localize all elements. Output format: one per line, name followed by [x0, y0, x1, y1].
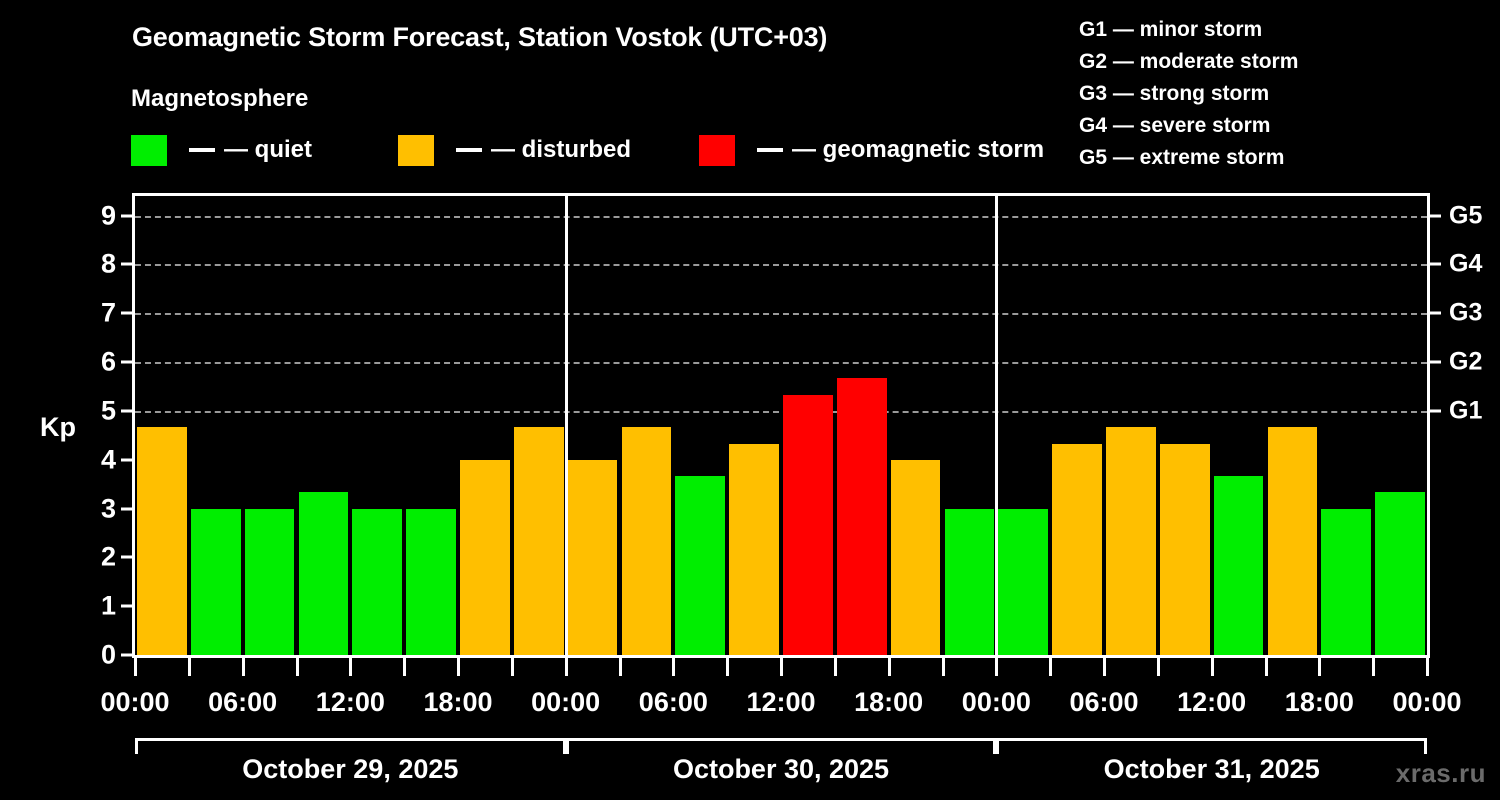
bar — [1214, 476, 1264, 655]
g-scale-line-g1: G1 — minor storm — [1079, 14, 1298, 46]
x-axis-tick-mark — [1103, 658, 1106, 676]
y-axis-tick-label: 6 — [76, 347, 116, 378]
legend-label-disturbed: — disturbed — [491, 136, 631, 164]
x-axis-tick-mark — [1318, 658, 1321, 676]
x-axis-tick-mark — [1049, 658, 1052, 676]
x-axis-tick-label: 12:00 — [1177, 687, 1246, 718]
x-axis-tick-label: 12:00 — [316, 687, 385, 718]
g-axis-tick-label: G1 — [1449, 396, 1482, 425]
g-axis-tick-mark — [1430, 409, 1441, 412]
y-axis-tick-mark — [121, 458, 132, 461]
bar — [1160, 444, 1210, 655]
legend-swatch-disturbed — [398, 135, 434, 166]
g-axis-tick-label: G5 — [1449, 201, 1482, 230]
bar — [1106, 427, 1156, 655]
g-scale-line-g5: G5 — extreme storm — [1079, 142, 1298, 174]
x-axis-tick-mark — [619, 658, 622, 676]
g-scale-line-g4: G4 — severe storm — [1079, 110, 1298, 142]
y-axis-tick-label: 5 — [76, 395, 116, 426]
legend-swatch-storm — [699, 135, 735, 166]
y-axis-tick-label: 1 — [76, 591, 116, 622]
g-axis-tick-mark — [1430, 312, 1441, 315]
x-axis-tick-mark — [349, 658, 352, 676]
x-axis-tick-mark — [1211, 658, 1214, 676]
x-axis-tick-mark — [403, 658, 406, 676]
g-scale-line-g2: G2 — moderate storm — [1079, 46, 1298, 78]
date-bracket — [996, 738, 1427, 754]
bar — [945, 509, 995, 655]
x-axis-tick-mark — [511, 658, 514, 676]
bar — [729, 444, 779, 655]
x-axis-tick-label: 06:00 — [208, 687, 277, 718]
x-axis-tick-mark — [188, 658, 191, 676]
bar — [191, 509, 241, 655]
bar — [406, 509, 456, 655]
legend-dash-icon — [456, 148, 482, 152]
plot-area — [132, 193, 1430, 658]
g-axis-tick-mark — [1430, 361, 1441, 364]
y-axis-tick-label: 9 — [76, 200, 116, 231]
x-axis-tick-label: 00:00 — [1392, 687, 1461, 718]
bar — [137, 427, 187, 655]
x-axis-tick-mark — [457, 658, 460, 676]
y-axis-tick-mark — [121, 507, 132, 510]
date-bracket — [566, 738, 997, 754]
magnetosphere-label: Magnetosphere — [131, 85, 308, 113]
page-title: Geomagnetic Storm Forecast, Station Vost… — [132, 22, 827, 53]
x-axis-tick-label: 06:00 — [1069, 687, 1138, 718]
bar — [1052, 444, 1102, 655]
x-axis-tick-mark — [780, 658, 783, 676]
y-axis-title: Kp — [40, 412, 76, 443]
x-axis-tick-mark — [1157, 658, 1160, 676]
day-separator — [995, 196, 998, 655]
g-axis-tick-label: G3 — [1449, 299, 1482, 328]
bar — [675, 476, 725, 655]
x-axis-tick-mark — [134, 658, 137, 676]
bar — [514, 427, 564, 655]
bar — [1375, 492, 1425, 655]
x-axis-tick-label: 06:00 — [639, 687, 708, 718]
legend-label-quiet: — quiet — [224, 136, 312, 164]
x-axis-tick-mark — [834, 658, 837, 676]
gridline — [135, 216, 1427, 218]
x-axis-tick-mark — [1426, 658, 1429, 676]
y-axis-tick-label: 8 — [76, 249, 116, 280]
x-axis-tick-mark — [1265, 658, 1268, 676]
x-axis-tick-mark — [296, 658, 299, 676]
g-axis-tick-mark — [1430, 214, 1441, 217]
x-axis-tick-label: 18:00 — [854, 687, 923, 718]
x-axis-tick-mark — [942, 658, 945, 676]
y-axis-tick-label: 0 — [76, 640, 116, 671]
x-axis-tick-label: 12:00 — [746, 687, 815, 718]
bar — [783, 395, 833, 655]
bar — [568, 460, 618, 655]
y-axis-tick-mark — [121, 409, 132, 412]
bar — [245, 509, 295, 655]
y-axis-tick-mark — [121, 214, 132, 217]
g-scale-line-g3: G3 — strong storm — [1079, 78, 1298, 110]
legend-item-disturbed: — disturbed — [398, 135, 631, 166]
bar — [837, 378, 887, 655]
x-axis-tick-label: 00:00 — [100, 687, 169, 718]
x-axis-tick-label: 18:00 — [1285, 687, 1354, 718]
x-axis-tick-mark — [888, 658, 891, 676]
legend-swatch-quiet — [131, 135, 167, 166]
x-axis-tick-label: 00:00 — [531, 687, 600, 718]
bar — [299, 492, 349, 655]
gridline — [135, 264, 1427, 266]
x-axis-tick-mark — [565, 658, 568, 676]
g-axis-tick-label: G4 — [1449, 250, 1482, 279]
plot-inner — [135, 196, 1427, 655]
x-axis-tick-mark — [242, 658, 245, 676]
y-axis-tick-label: 2 — [76, 542, 116, 573]
date-bracket — [135, 738, 566, 754]
legend-item-quiet: — quiet — [131, 135, 312, 166]
day-separator — [565, 196, 568, 655]
gridline — [135, 362, 1427, 364]
x-axis-tick-mark — [726, 658, 729, 676]
date-label: October 31, 2025 — [1104, 754, 1320, 785]
g-axis-tick-label: G2 — [1449, 348, 1482, 377]
g-scale-legend: G1 — minor storm G2 — moderate storm G3 … — [1079, 14, 1298, 174]
y-axis-tick-mark — [121, 654, 132, 657]
watermark: xras.ru — [1396, 758, 1486, 789]
legend-label-storm: — geomagnetic storm — [792, 136, 1044, 164]
bar — [352, 509, 402, 655]
g-axis-tick-mark — [1430, 263, 1441, 266]
bar — [891, 460, 941, 655]
x-axis-tick-mark — [672, 658, 675, 676]
gridline — [135, 411, 1427, 413]
x-axis-tick-mark — [995, 658, 998, 676]
bar — [998, 509, 1048, 655]
y-axis-tick-mark — [121, 556, 132, 559]
x-axis-tick-label: 00:00 — [962, 687, 1031, 718]
date-label: October 29, 2025 — [242, 754, 458, 785]
bar — [1321, 509, 1371, 655]
legend: — quiet — disturbed — geomagnetic storm — [131, 133, 1044, 167]
legend-dash-icon — [757, 148, 783, 152]
date-label: October 30, 2025 — [673, 754, 889, 785]
gridline — [135, 313, 1427, 315]
bar — [460, 460, 510, 655]
y-axis-tick-mark — [121, 361, 132, 364]
x-axis-tick-mark — [1372, 658, 1375, 676]
x-axis-tick-label: 18:00 — [423, 687, 492, 718]
y-axis-tick-mark — [121, 605, 132, 608]
y-axis-tick-label: 4 — [76, 444, 116, 475]
y-axis-tick-mark — [121, 263, 132, 266]
y-axis-tick-label: 7 — [76, 298, 116, 329]
bar — [1268, 427, 1318, 655]
y-axis-tick-mark — [121, 312, 132, 315]
legend-dash-icon — [189, 148, 215, 152]
legend-item-storm: — geomagnetic storm — [699, 135, 1044, 166]
y-axis-tick-label: 3 — [76, 493, 116, 524]
bar — [622, 427, 672, 655]
